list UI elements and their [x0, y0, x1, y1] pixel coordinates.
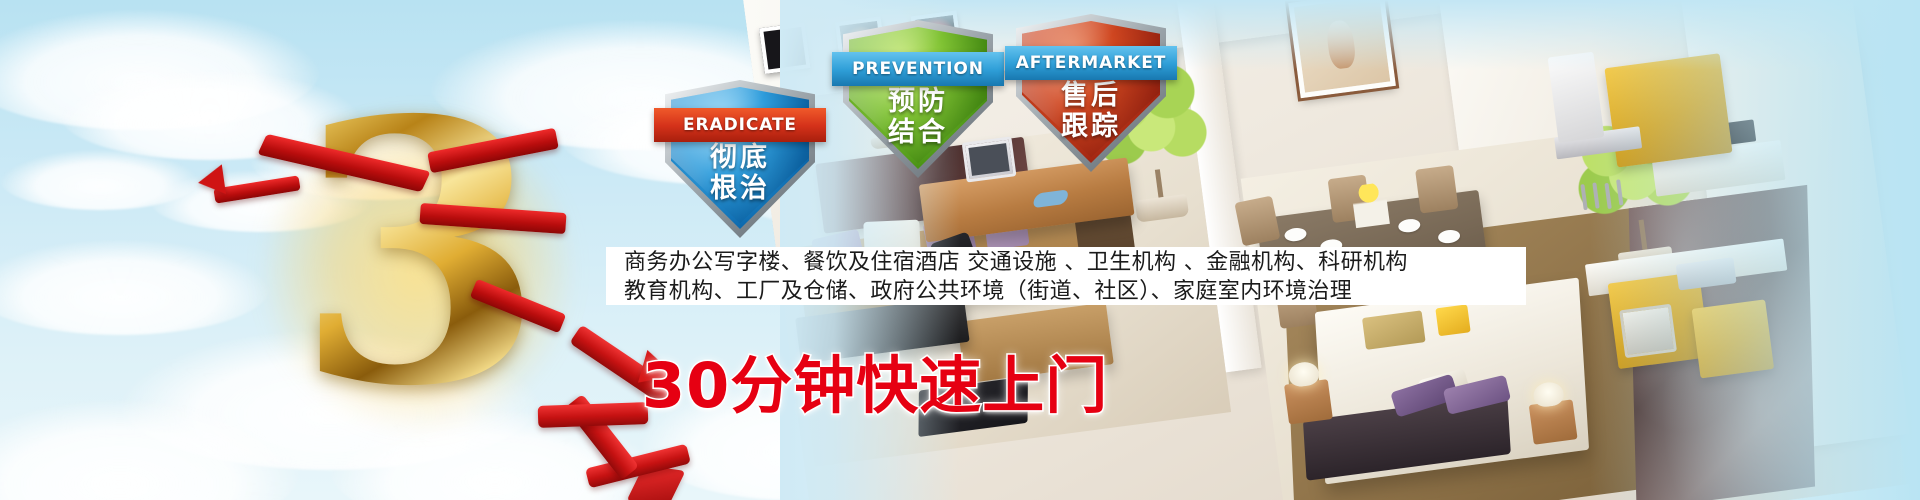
bed-cushion — [1435, 304, 1470, 336]
table-centerpiece — [1351, 182, 1390, 228]
badge-band-label: PREVENTION — [852, 59, 984, 79]
ribbon-arrow-icon — [196, 164, 226, 197]
headline-text: 30分钟快速上门 — [642, 352, 1108, 420]
badge-ribbon-band: PREVENTION — [832, 52, 1004, 86]
badge-prevention: 预防 结合 PREVENTION — [843, 20, 993, 178]
badge-cn-line-1: 彻底 — [665, 142, 815, 173]
badge-cn-line-2: 结合 — [843, 117, 993, 148]
badge-ribbon-band: ERADICATE — [654, 108, 826, 142]
badge-cn-line-2: 根治 — [665, 173, 815, 204]
service-scope-panel: 商务办公写字楼、餐饮及住宿酒店 交通设施 、卫生机构 、金融机构、科研机构 教育… — [606, 247, 1526, 305]
cloud-shape — [0, 240, 270, 335]
framed-portrait — [1288, 0, 1396, 98]
promo-banner: 3 彻底 根治 ERADICATE 预防 结合 — [0, 0, 1920, 500]
badge-band-label: ERADICATE — [683, 115, 797, 135]
service-scope-line-1: 商务办公写字楼、餐饮及住宿酒店 交通设施 、卫生机构 、金融机构、科研机构 — [624, 248, 1526, 277]
cloud-shape — [0, 150, 200, 210]
badge-ribbon-band: AFTERMARKET — [1005, 46, 1177, 80]
dining-chair — [1415, 165, 1458, 214]
wall-art — [759, 22, 811, 74]
badge-band-label: AFTERMARKET — [1016, 53, 1167, 73]
service-scope-line-2: 教育机构、工厂及仓储、政府公共环境（街道、社区）、家庭室内环境治理 — [624, 277, 1526, 306]
badge-cn-line-1: 预防 — [843, 86, 993, 117]
badge-aftermarket: 售后 跟踪 AFTERMARKET — [1016, 14, 1166, 172]
nightstand — [1284, 379, 1333, 424]
badge-cn-text: 彻底 根治 — [665, 142, 815, 204]
kitchen-cabinet — [1692, 299, 1775, 378]
badge-eradicate: 彻底 根治 ERADICATE — [665, 80, 815, 238]
badge-cn-line-2: 跟踪 — [1016, 111, 1166, 142]
nightstand — [1529, 399, 1578, 444]
badge-cn-text: 预防 结合 — [843, 86, 993, 148]
badge-cn-line-1: 售后 — [1016, 80, 1166, 111]
badge-cn-text: 售后 跟踪 — [1016, 80, 1166, 142]
ribbon-segment — [538, 402, 649, 428]
oven — [1619, 304, 1677, 358]
